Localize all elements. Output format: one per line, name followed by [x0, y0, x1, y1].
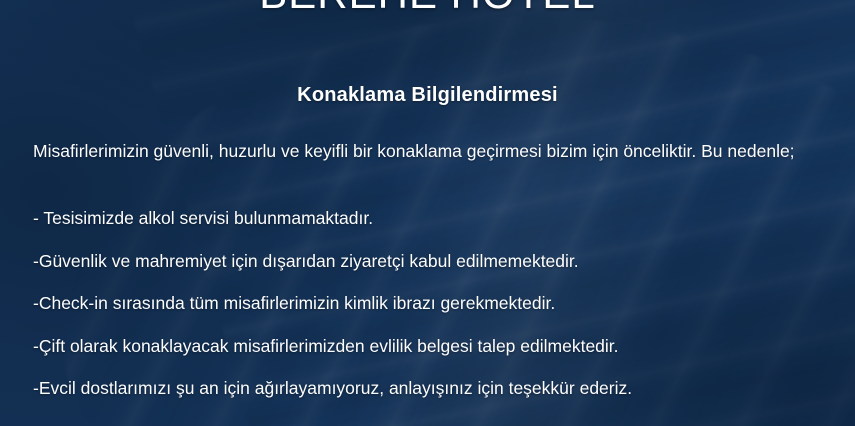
hotel-name-title: BEREHE HOTEL [0, 0, 855, 18]
rules-list: - Tesisimizde alkol servisi bulunmamakta… [33, 207, 835, 420]
list-item: -Check-in sırasında tüm misafirlerimizin… [33, 292, 835, 314]
section-heading: Konaklama Bilgilendirmesi [0, 84, 855, 107]
slide-content: BEREHE HOTEL Konaklama Bilgilendirmesi M… [0, 0, 855, 426]
list-item: -Çift olarak konaklayacak misafirlerimiz… [33, 335, 835, 357]
hotel-information-slide: BEREHE HOTEL Konaklama Bilgilendirmesi M… [0, 0, 855, 426]
list-item: - Tesisimizde alkol servisi bulunmamakta… [33, 207, 835, 229]
list-item: -Evcil dostlarımızı şu an için ağırlayam… [33, 377, 835, 399]
list-item: -Güvenlik ve mahremiyet için dışarıdan z… [33, 250, 835, 272]
intro-paragraph: Misafirlerimizin güvenli, huzurlu ve key… [33, 139, 831, 163]
